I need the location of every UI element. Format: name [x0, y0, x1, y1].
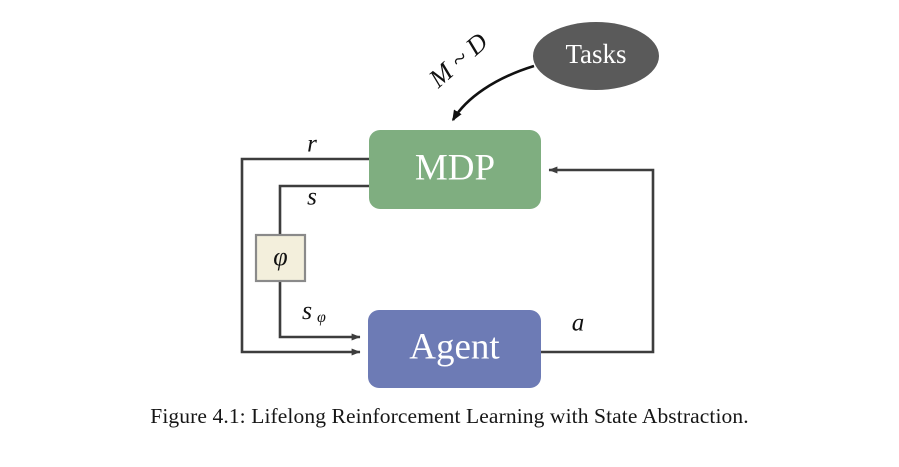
edge-state-path: [280, 186, 369, 235]
edge-reward-label: r: [307, 131, 317, 158]
edge-sample-label: M ~ D: [423, 27, 494, 94]
edge-state: s: [280, 184, 369, 235]
node-phi-label: φ: [273, 242, 287, 271]
node-mdp-label: MDP: [415, 147, 495, 188]
node-tasks[interactable]: Tasks: [533, 22, 659, 90]
figure-page: a r s s φ φ: [0, 0, 899, 467]
node-agent[interactable]: Agent: [368, 310, 541, 388]
edge-abstract-state-sublabel: φ: [317, 309, 326, 326]
edge-state-label: s: [307, 184, 317, 211]
node-tasks-label: Tasks: [565, 39, 626, 69]
figure-caption: Figure 4.1: Lifelong Reinforcement Learn…: [0, 404, 899, 429]
edge-sample-path: [453, 66, 534, 120]
edge-action-label: a: [572, 310, 585, 337]
edge-action-path: [541, 170, 653, 352]
edge-action: a: [541, 170, 653, 352]
node-agent-label: Agent: [409, 326, 500, 367]
edge-sample: M ~ D: [423, 27, 534, 120]
node-mdp[interactable]: MDP: [369, 130, 541, 209]
edge-abstract-state: s φ: [280, 281, 360, 337]
edge-abstract-state-label: s: [302, 296, 312, 325]
node-phi[interactable]: φ: [256, 235, 305, 281]
diagram-svg: a r s s φ φ: [0, 0, 899, 400]
diagram-canvas: a r s s φ φ: [0, 0, 899, 400]
